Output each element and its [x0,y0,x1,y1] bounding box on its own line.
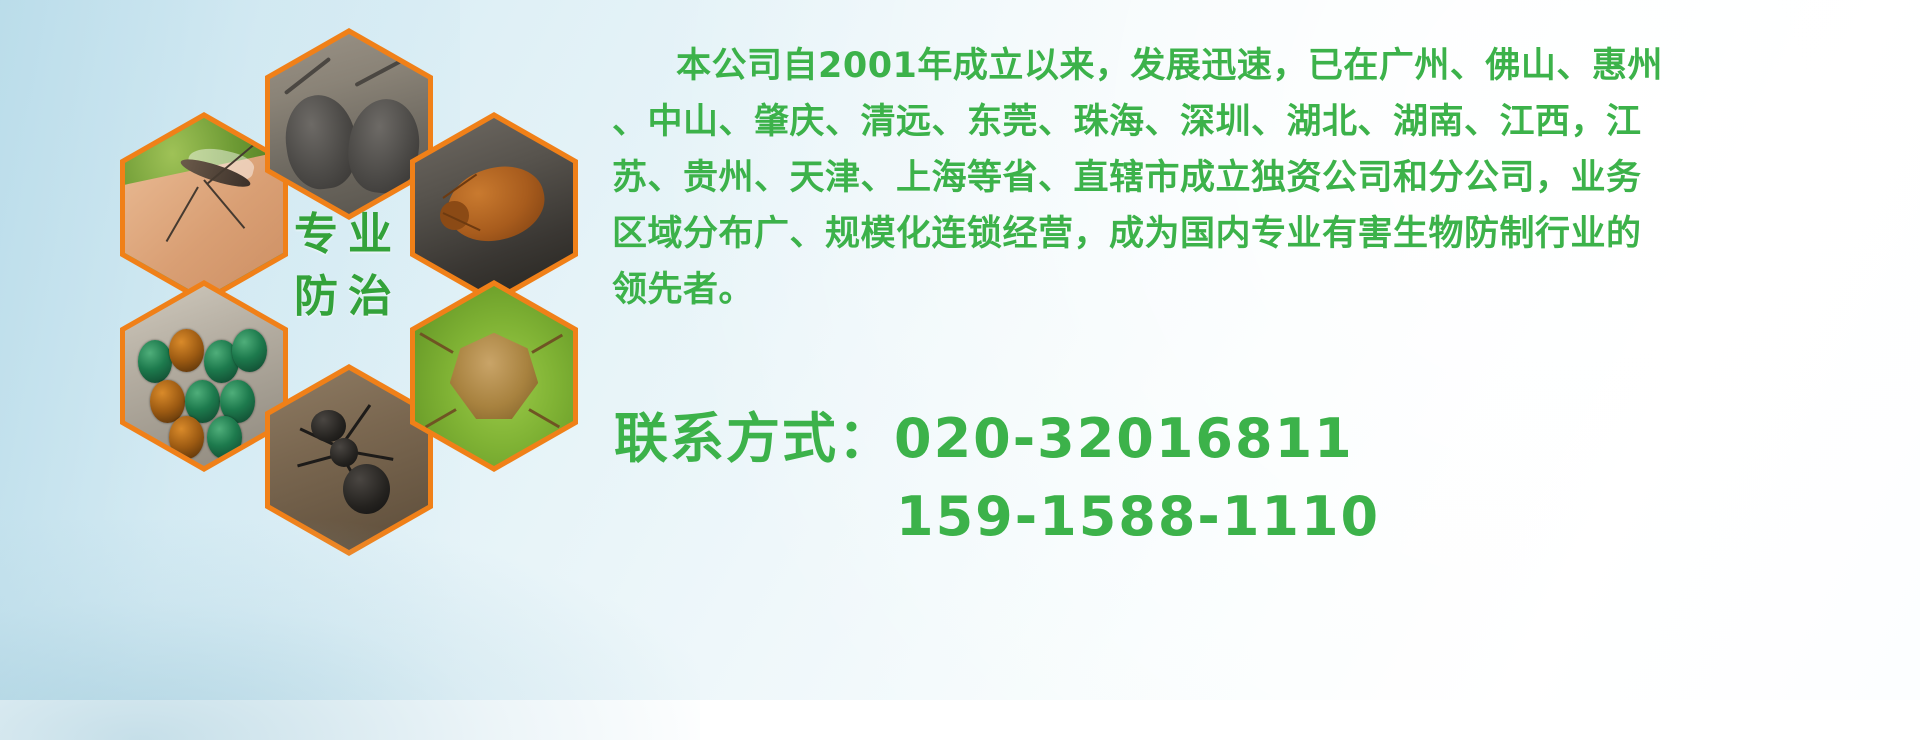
ant-head-shape [311,410,346,442]
badge-title-line-2: 防治 [258,266,438,328]
hex-cell-rats-inner [270,34,428,214]
ant-abdomen-shape [343,464,390,514]
contact-mobile[interactable]: 159-1588-1110 [896,485,1380,548]
stink-bug-photo [415,286,573,466]
contact-landline[interactable]: 020-32016811 [894,407,1354,470]
fly-shape [232,329,267,372]
ant-thorax-shape [330,438,358,467]
honeycomb-photo-cluster: 专业 防治 [90,8,590,568]
hex-cell-cockroach-inner [415,118,573,298]
pest-control-banner: 专业 防治 本公司自2001年成立以来，发展迅速，已在广州、佛山、惠州 、中山、… [0,0,1920,700]
contact-primary-line: 联系方式：020-32016811 [614,400,1904,478]
stink-bug-leg-shape [531,334,563,354]
description-line: 区域分布广、规模化连锁经营，成为国内专业有害生物防制行业的 [612,206,1904,262]
badge-title: 专业 防治 [258,204,438,328]
description-line: 领先者。 [612,262,1904,318]
description-line: 本公司自2001年成立以来，发展迅速，已在广州、佛山、惠州 [612,38,1904,94]
hex-cell-ant [265,364,433,556]
hex-cell-rats [265,28,433,220]
rat-tail-shape [355,57,407,87]
rat-tail-shape [284,57,331,95]
rat-photo [270,34,428,214]
hex-cell-stink-bug-inner [415,286,573,466]
fly-shape [138,340,173,383]
fly-shape [207,416,242,459]
contact-block: 联系方式：020-32016811 159-1588-1110 [614,400,1904,556]
badge-title-line-1: 专业 [258,204,438,266]
contact-secondary-line: 159-1588-1110 [614,478,1904,556]
contact-label: 联系方式： [614,407,894,470]
stink-bug-body-shape [450,333,538,419]
stink-bug-leg-shape [528,409,560,429]
fly-shape [169,329,204,372]
stink-bug-leg-shape [419,332,453,354]
cockroach-photo [415,118,573,298]
fly-shape [169,416,204,459]
stink-bug-leg-shape [425,409,457,429]
description-line: 、中山、肇庆、清远、东莞、珠海、深圳、湖北、湖南、江西，江 [612,94,1904,150]
description-line: 苏、贵州、天津、上海等省、直辖市成立独资公司和分公司，业务 [612,150,1904,206]
ant-photo [270,370,428,550]
hex-cell-ant-inner [270,370,428,550]
company-description: 本公司自2001年成立以来，发展迅速，已在广州、佛山、惠州 、中山、肇庆、清远、… [612,38,1904,318]
